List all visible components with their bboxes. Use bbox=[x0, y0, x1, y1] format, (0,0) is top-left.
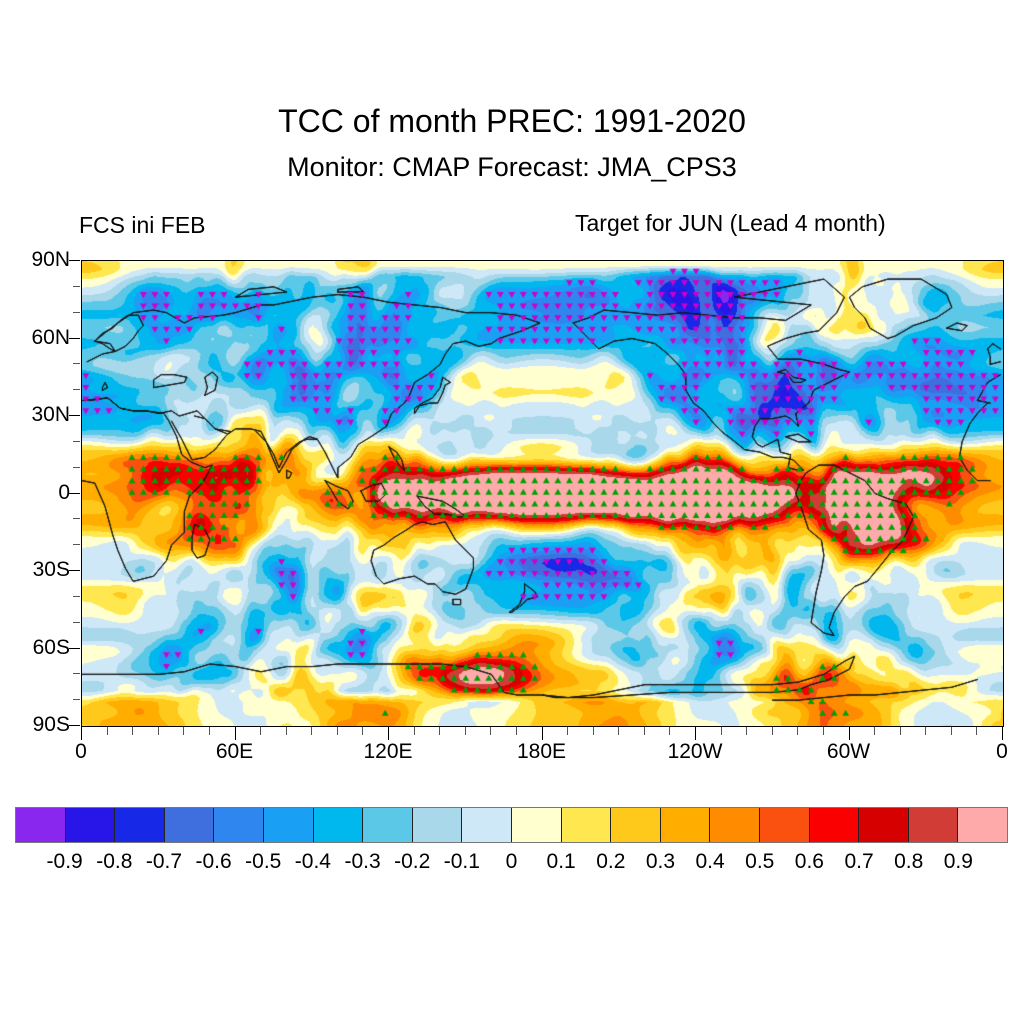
x-axis-tick bbox=[695, 727, 696, 740]
colorbar-tick-label: -0.6 bbox=[196, 850, 232, 874]
y-axis-minor-tick bbox=[73, 286, 80, 287]
colorbar-swatch bbox=[710, 808, 760, 842]
y-axis-tick bbox=[69, 415, 80, 416]
colorbar-tick-label: 0.6 bbox=[795, 850, 824, 874]
x-axis-minor-tick bbox=[874, 727, 875, 735]
page-subtitle: Monitor: CMAP Forecast: JMA_CPS3 bbox=[0, 152, 1024, 183]
y-axis-tick bbox=[69, 493, 80, 494]
x-axis-tick-label: 0 bbox=[75, 740, 87, 764]
colorbar-swatch bbox=[363, 808, 413, 842]
target-month-label: Target for JUN (Lead 4 month) bbox=[575, 210, 886, 237]
y-axis-tick bbox=[69, 570, 80, 571]
colorbar-swatch bbox=[512, 808, 562, 842]
y-axis-tick-label: 0 bbox=[8, 481, 70, 505]
x-axis-tick bbox=[235, 727, 236, 740]
y-axis-tick bbox=[69, 648, 80, 649]
colorbar-tick-label: 0.3 bbox=[646, 850, 675, 874]
x-axis-minor-tick bbox=[951, 727, 952, 735]
colorbar-tick-label: -0.3 bbox=[344, 850, 380, 874]
colorbar bbox=[15, 807, 1008, 843]
x-axis-minor-tick bbox=[286, 727, 287, 735]
colorbar-swatch bbox=[810, 808, 860, 842]
y-axis-tick-label: 60S bbox=[8, 636, 70, 660]
x-axis-minor-tick bbox=[772, 727, 773, 735]
y-axis-minor-tick bbox=[73, 518, 80, 519]
colorbar-swatch bbox=[958, 808, 1007, 842]
colorbar-swatch bbox=[413, 808, 463, 842]
colorbar-swatches bbox=[15, 807, 1008, 843]
y-axis-tick-label: 60N bbox=[8, 326, 70, 350]
page-title: TCC of month PREC: 1991-2020 bbox=[0, 103, 1024, 140]
colorbar-tick-label: 0.1 bbox=[547, 850, 576, 874]
colorbar-tick-label: 0.7 bbox=[844, 850, 873, 874]
x-axis-minor-tick bbox=[925, 727, 926, 735]
x-axis-minor-tick bbox=[132, 727, 133, 735]
x-axis-minor-tick bbox=[900, 727, 901, 735]
colorbar-tick-label: -0.2 bbox=[394, 850, 430, 874]
colorbar-tick-label: 0.9 bbox=[944, 850, 973, 874]
x-axis-minor-tick bbox=[465, 727, 466, 735]
x-axis-tick bbox=[1002, 727, 1003, 740]
x-axis-tick-label: 0 bbox=[996, 740, 1008, 764]
y-axis-tick-label: 30N bbox=[8, 403, 70, 427]
y-axis-tick bbox=[69, 725, 80, 726]
x-axis-minor-tick bbox=[976, 727, 977, 735]
colorbar-swatch bbox=[165, 808, 215, 842]
y-axis-tick bbox=[69, 260, 80, 261]
x-axis-minor-tick bbox=[107, 727, 108, 735]
colorbar-swatch bbox=[909, 808, 959, 842]
y-axis-tick-label: 90S bbox=[8, 713, 70, 737]
colorbar-tick-label: 0.4 bbox=[695, 850, 724, 874]
colorbar-swatch bbox=[66, 808, 116, 842]
y-axis-tick-label: 90N bbox=[8, 248, 70, 272]
y-axis-minor-tick bbox=[73, 363, 80, 364]
colorbar-tick-label: 0.2 bbox=[596, 850, 625, 874]
x-axis-minor-tick bbox=[618, 727, 619, 735]
x-axis-minor-tick bbox=[567, 727, 568, 735]
colorbar-swatch bbox=[661, 808, 711, 842]
colorbar-swatch bbox=[314, 808, 364, 842]
x-axis-minor-tick bbox=[158, 727, 159, 735]
x-axis-minor-tick bbox=[746, 727, 747, 735]
colorbar-tick-label: 0 bbox=[506, 850, 518, 874]
x-axis-minor-tick bbox=[362, 727, 363, 735]
y-axis-tick-label: 30S bbox=[8, 558, 70, 582]
x-axis-minor-tick bbox=[490, 727, 491, 735]
colorbar-swatch bbox=[611, 808, 661, 842]
colorbar-tick-label: -0.5 bbox=[245, 850, 281, 874]
x-axis-minor-tick bbox=[414, 727, 415, 735]
x-axis-tick-label: 60W bbox=[827, 740, 870, 764]
colorbar-tick-label: -0.8 bbox=[96, 850, 132, 874]
map-figure: TCC of month PREC: 1991-2020 Monitor: CM… bbox=[0, 0, 1024, 1024]
colorbar-tick-label: -0.4 bbox=[295, 850, 331, 874]
y-axis-minor-tick bbox=[73, 699, 80, 700]
y-axis-minor-tick bbox=[73, 312, 80, 313]
x-axis-tick bbox=[388, 727, 389, 740]
x-axis-minor-tick bbox=[669, 727, 670, 735]
x-axis-minor-tick bbox=[516, 727, 517, 735]
x-axis-minor-tick bbox=[823, 727, 824, 735]
x-axis-minor-tick bbox=[439, 727, 440, 735]
x-axis-tick bbox=[81, 727, 82, 740]
y-axis-minor-tick bbox=[73, 389, 80, 390]
colorbar-swatch bbox=[859, 808, 909, 842]
x-axis-minor-tick bbox=[260, 727, 261, 735]
colorbar-swatch bbox=[264, 808, 314, 842]
x-axis-minor-tick bbox=[183, 727, 184, 735]
x-axis-tick-label: 120E bbox=[363, 740, 412, 764]
colorbar-tick-label: 0.5 bbox=[745, 850, 774, 874]
x-axis-minor-tick bbox=[337, 727, 338, 735]
x-axis-minor-tick bbox=[644, 727, 645, 735]
colorbar-swatch bbox=[462, 808, 512, 842]
correlation-heatmap-canvas bbox=[82, 261, 1003, 726]
y-axis-minor-tick bbox=[73, 544, 80, 545]
x-axis-tick-label: 180E bbox=[517, 740, 566, 764]
y-axis-minor-tick bbox=[73, 596, 80, 597]
colorbar-swatch bbox=[562, 808, 612, 842]
colorbar-tick-label: 0.8 bbox=[894, 850, 923, 874]
x-axis-minor-tick bbox=[721, 727, 722, 735]
y-axis-minor-tick bbox=[73, 622, 80, 623]
colorbar-swatch bbox=[115, 808, 165, 842]
y-axis-minor-tick bbox=[73, 467, 80, 468]
x-axis-tick bbox=[849, 727, 850, 740]
x-axis-tick-label: 60E bbox=[216, 740, 253, 764]
colorbar-tick-label: -0.9 bbox=[47, 850, 83, 874]
colorbar-swatch bbox=[760, 808, 810, 842]
forecast-initialization-label: FCS ini FEB bbox=[79, 212, 206, 239]
x-axis-minor-tick bbox=[209, 727, 210, 735]
y-axis-minor-tick bbox=[73, 441, 80, 442]
colorbar-swatch bbox=[214, 808, 264, 842]
colorbar-tick-label: -0.7 bbox=[146, 850, 182, 874]
y-axis-minor-tick bbox=[73, 673, 80, 674]
x-axis-tick-label: 120W bbox=[668, 740, 723, 764]
x-axis-tick bbox=[542, 727, 543, 740]
colorbar-tick-label: -0.1 bbox=[444, 850, 480, 874]
world-map-plot bbox=[81, 260, 1004, 727]
x-axis-minor-tick bbox=[797, 727, 798, 735]
y-axis-tick bbox=[69, 338, 80, 339]
x-axis-minor-tick bbox=[593, 727, 594, 735]
colorbar-swatch bbox=[16, 808, 66, 842]
x-axis-minor-tick bbox=[311, 727, 312, 735]
